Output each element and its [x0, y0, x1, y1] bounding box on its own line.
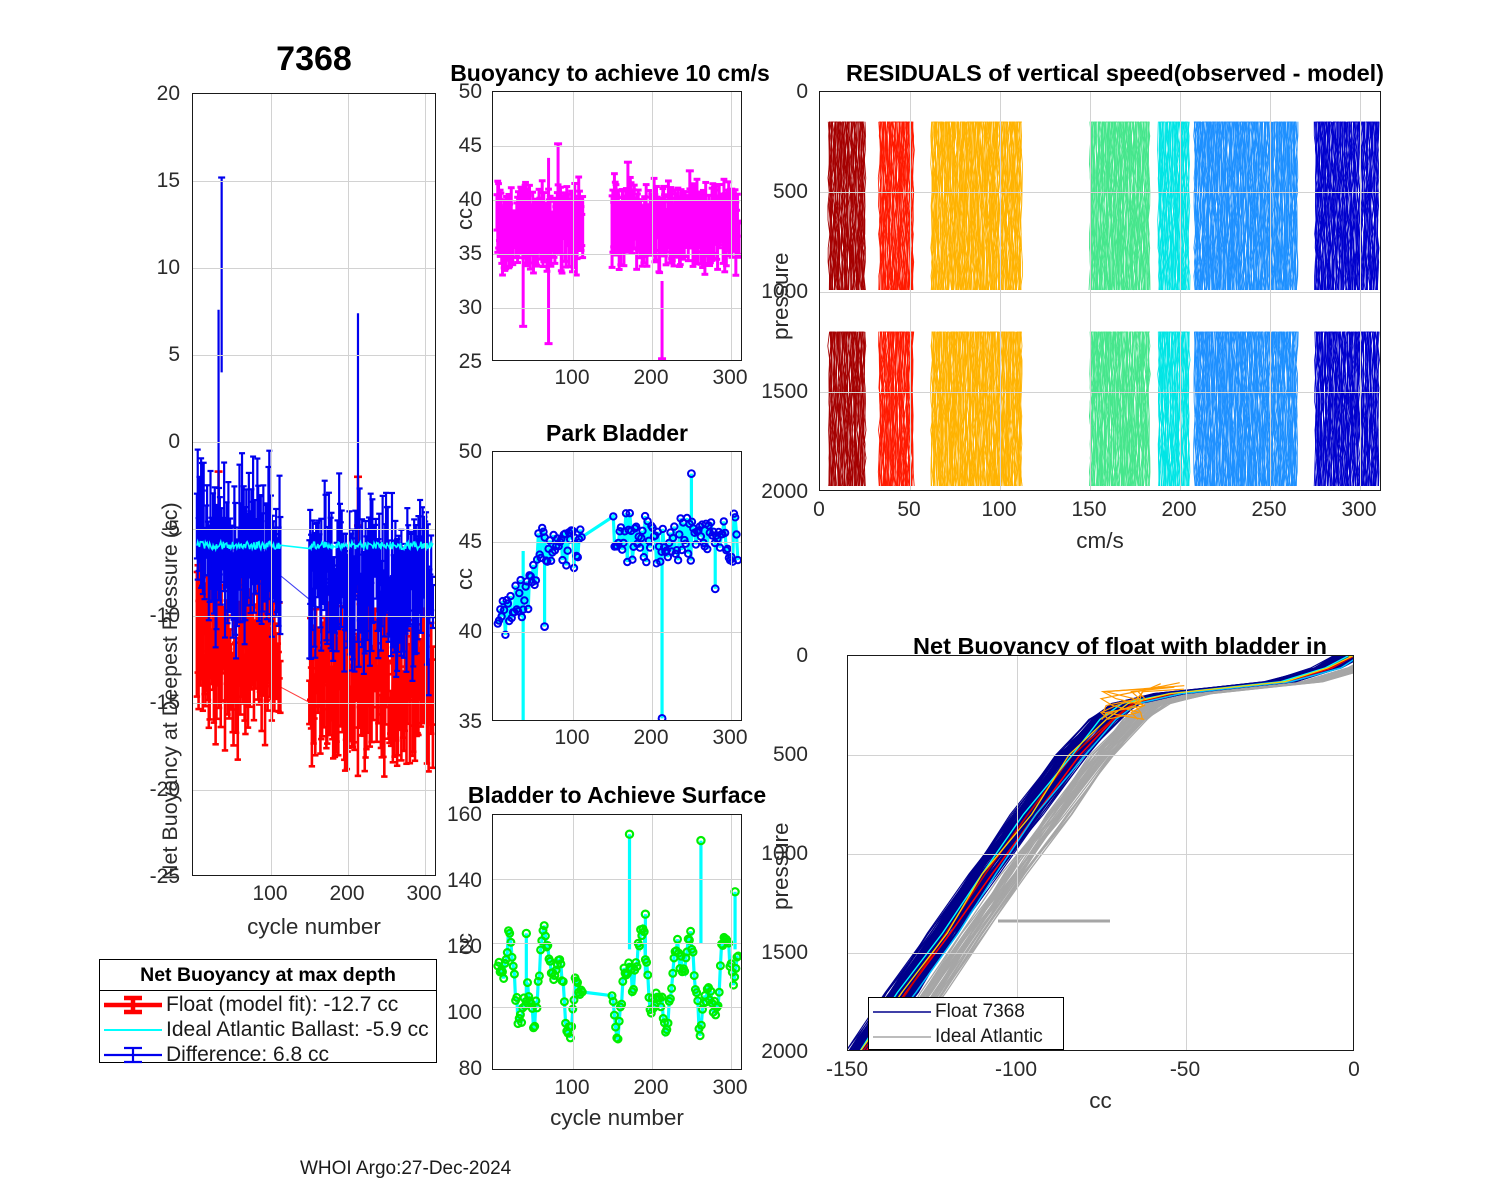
- park-series: [493, 452, 742, 721]
- surface-ytick-140: 140: [422, 869, 482, 893]
- main-ytick-5: 5: [118, 343, 180, 367]
- main-ytick-m15: -15: [118, 691, 180, 715]
- netbuoy-legend-item-ideal[interactable]: Ideal Atlantic: [869, 1024, 1063, 1049]
- park-ytick-35: 35: [432, 710, 482, 734]
- residuals-xtick-50: 50: [879, 498, 939, 522]
- netbuoy-x-axis-label: cc: [847, 1088, 1354, 1114]
- netbuoy-legend-label-ideal: Ideal Atlantic: [935, 1026, 1043, 1048]
- netbuoy-ytick-1500: 1500: [740, 941, 808, 965]
- residuals-xtick-100: 100: [969, 498, 1029, 522]
- main-xtick-100: 100: [240, 882, 300, 906]
- buoy10-ytick-35: 35: [432, 242, 482, 266]
- main-ytick-m10: -10: [118, 604, 180, 628]
- netbuoy-xtick-m50: -50: [1155, 1058, 1215, 1082]
- buoy10-plot-area: [492, 91, 742, 361]
- main-ytick-m25: -25: [118, 865, 180, 889]
- netbuoy-xtick-m100: -100: [986, 1058, 1046, 1082]
- residuals-ytick-1500: 1500: [740, 380, 808, 404]
- buoy10-ytick-40: 40: [432, 188, 482, 212]
- legend-item-ideal-ballast[interactable]: Ideal Atlantic Ballast: -5.9 cc: [100, 1017, 436, 1042]
- residuals-x-axis-label: cm/s: [819, 528, 1381, 554]
- residuals-xtick-200: 200: [1149, 498, 1209, 522]
- residuals-plot-area: [819, 91, 1381, 491]
- main-plot-area: [192, 93, 436, 876]
- park-ytick-45: 45: [432, 530, 482, 554]
- residuals-ytick-0: 0: [740, 80, 808, 104]
- main-ytick-0: 0: [118, 430, 180, 454]
- park-xtick-200: 200: [621, 726, 681, 750]
- main-ytick-20: 20: [118, 82, 180, 106]
- residuals-xtick-250: 250: [1239, 498, 1299, 522]
- park-xtick-100: 100: [542, 726, 602, 750]
- buoy10-ytick-45: 45: [432, 134, 482, 158]
- surface-xtick-300: 300: [700, 1076, 760, 1100]
- main-ytick-10: 10: [118, 256, 180, 280]
- main-x-axis-label: cycle number: [192, 914, 436, 940]
- legend-swatch-float-errorbar: [100, 994, 166, 1016]
- surface-ytick-120: 120: [422, 935, 482, 959]
- main-plot-series: [193, 94, 436, 876]
- main-legend-title: Net Buoyancy at max depth: [100, 960, 436, 991]
- legend-label-ideal-ballast: Ideal Atlantic Ballast: -5.9 cc: [166, 1018, 429, 1042]
- netbuoy-legend-item-float[interactable]: Float 7368: [869, 999, 1063, 1024]
- residuals-xtick-150: 150: [1059, 498, 1119, 522]
- netbuoy-ytick-500: 500: [740, 743, 808, 767]
- residuals-ytick-500: 500: [740, 180, 808, 204]
- buoy10-xtick-200: 200: [621, 366, 681, 390]
- park-title: Park Bladder: [492, 420, 742, 447]
- netbuoy-legend-swatch-float: [869, 1002, 935, 1022]
- park-ytick-50: 50: [432, 440, 482, 464]
- buoy10-xtick-100: 100: [542, 366, 602, 390]
- legend-label-float: Float (model fit): -12.7 cc: [166, 993, 398, 1017]
- footer-credit: WHOI Argo:27-Dec-2024: [300, 1158, 511, 1180]
- buoy10-ytick-25: 25: [432, 350, 482, 374]
- legend-label-difference: Difference: 6.8 cc: [166, 1043, 329, 1067]
- main-ytick-m5: -5: [118, 517, 180, 541]
- surface-title: Bladder to Achieve Surface: [452, 782, 782, 809]
- park-y-axis-label: cc: [452, 568, 478, 590]
- surface-ytick-160: 160: [422, 803, 482, 827]
- surface-xtick-200: 200: [621, 1076, 681, 1100]
- buoy10-title: Buoyancy to achieve 10 cm/s: [430, 60, 790, 87]
- main-panel-title: 7368: [192, 40, 436, 79]
- netbuoy-ytick-2000: 2000: [740, 1040, 808, 1064]
- netbuoy-xtick-m150: -150: [817, 1058, 877, 1082]
- netbuoy-legend: Float 7368 Ideal Atlantic: [868, 997, 1064, 1050]
- netbuoy-ytick-0: 0: [740, 644, 808, 668]
- netbuoy-legend-label-float: Float 7368: [935, 1001, 1025, 1023]
- surface-ytick-80: 80: [422, 1057, 482, 1081]
- surface-ytick-100: 100: [422, 1001, 482, 1025]
- netbuoy-y-axis-label: pressure: [768, 822, 794, 910]
- main-legend: Net Buoyancy at max depth Float (model f…: [99, 959, 437, 1063]
- surface-x-axis-label: cycle number: [492, 1105, 742, 1131]
- surface-plot-area: [492, 814, 742, 1070]
- netbuoy-xtick-0: 0: [1324, 1058, 1384, 1082]
- netbuoy-ytick-1000: 1000: [740, 842, 808, 866]
- main-ytick-15: 15: [118, 169, 180, 193]
- legend-item-float[interactable]: Float (model fit): -12.7 cc: [100, 992, 436, 1017]
- buoy10-ytick-30: 30: [432, 296, 482, 320]
- buoy10-ytick-50: 50: [432, 80, 482, 104]
- legend-swatch-difference-errorbar: [100, 1044, 166, 1066]
- main-xtick-200: 200: [317, 882, 377, 906]
- netbuoy-plot-area: [847, 655, 1354, 1051]
- residuals-ytick-1000: 1000: [740, 280, 808, 304]
- main-ytick-m20: -20: [118, 778, 180, 802]
- buoy10-series: [493, 92, 742, 361]
- park-plot-area: [492, 451, 742, 721]
- surface-xtick-100: 100: [542, 1076, 602, 1100]
- residuals-xtick-300: 300: [1329, 498, 1389, 522]
- legend-item-difference[interactable]: Difference: 6.8 cc: [100, 1042, 436, 1067]
- residuals-title: RESIDUALS of vertical speed(observed - m…: [790, 60, 1440, 87]
- residuals-xtick-0: 0: [789, 498, 849, 522]
- netbuoy-legend-swatch-ideal: [869, 1027, 935, 1047]
- park-ytick-40: 40: [432, 620, 482, 644]
- legend-swatch-ideal-line: [100, 1019, 166, 1041]
